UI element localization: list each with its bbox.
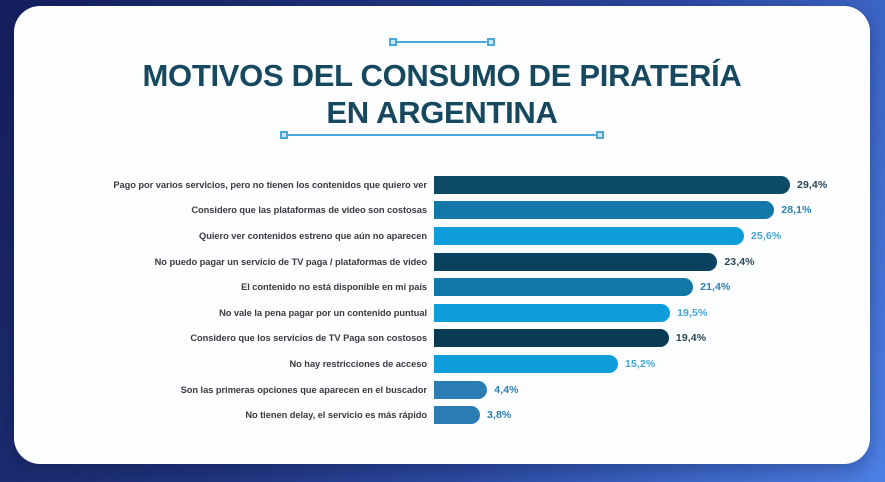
chart-row-track: 21,4% (434, 274, 870, 300)
chart-bar-value: 23,4% (724, 256, 754, 268)
chart-bar-value: 19,5% (677, 307, 707, 319)
page-title: MOTIVOS DEL CONSUMO DE PIRATERÍA EN ARGE… (14, 58, 870, 131)
chart-bar (434, 355, 618, 373)
chart-bar-value: 29,4% (797, 179, 827, 191)
decoration-top (389, 37, 495, 46)
chart-row-track: 23,4% (434, 249, 870, 275)
chart-row-label: Quiero ver contenidos estreno que aún no… (14, 231, 434, 241)
decoration-cap-right (487, 38, 495, 46)
chart-row-track: 25,6% (434, 223, 870, 249)
chart-row-label: Pago por varios servicios, pero no tiene… (14, 180, 434, 190)
decoration-bar (288, 134, 596, 136)
chart-row-label: No puedo pagar un servicio de TV paga / … (14, 257, 434, 267)
chart-row-label: No tienen delay, el servicio es más rápi… (14, 410, 434, 420)
chart-row-label: Son las primeras opciones que aparecen e… (14, 385, 434, 395)
chart-bar (434, 253, 717, 271)
chart-row: No vale la pena pagar por un contenido p… (14, 300, 870, 326)
chart-row: Considero que los servicios de TV Paga s… (14, 326, 870, 352)
chart-row: No puedo pagar un servicio de TV paga / … (14, 249, 870, 275)
chart-row: Pago por varios servicios, pero no tiene… (14, 172, 870, 198)
chart-row-track: 19,5% (434, 300, 870, 326)
chart-bar (434, 227, 744, 245)
horizontal-bar-chart: Pago por varios servicios, pero no tiene… (14, 172, 870, 428)
chart-row-label: No hay restricciones de acceso (14, 359, 434, 369)
chart-row: Quiero ver contenidos estreno que aún no… (14, 223, 870, 249)
chart-row: Son las primeras opciones que aparecen e… (14, 377, 870, 403)
chart-bar (434, 278, 693, 296)
chart-bar-value: 4,4% (494, 384, 518, 396)
chart-row-track: 19,4% (434, 326, 870, 352)
chart-row: El contenido no está disponible en mi pa… (14, 274, 870, 300)
chart-bar (434, 329, 669, 347)
decoration-cap-right (596, 131, 604, 139)
chart-bar-value: 25,6% (751, 230, 781, 242)
chart-row-track: 28,1% (434, 198, 870, 224)
chart-row-track: 3,8% (434, 402, 870, 428)
chart-bar-value: 3,8% (487, 409, 511, 421)
chart-row: No tienen delay, el servicio es más rápi… (14, 402, 870, 428)
chart-bar-value: 15,2% (625, 358, 655, 370)
chart-bar-value: 21,4% (700, 281, 730, 293)
chart-bar (434, 406, 480, 424)
chart-row-label: Considero que las plataformas de video s… (14, 205, 434, 215)
chart-bar-value: 28,1% (781, 204, 811, 216)
chart-row-track: 29,4% (434, 172, 870, 198)
chart-card: MOTIVOS DEL CONSUMO DE PIRATERÍA EN ARGE… (14, 6, 870, 464)
chart-bar (434, 381, 487, 399)
chart-row-track: 15,2% (434, 351, 870, 377)
decoration-cap-left (280, 131, 288, 139)
page-title-line-2: EN ARGENTINA (14, 95, 870, 132)
chart-row-label: El contenido no está disponible en mi pa… (14, 282, 434, 292)
chart-row-label: No vale la pena pagar por un contenido p… (14, 308, 434, 318)
chart-row-track: 4,4% (434, 377, 870, 403)
chart-bar-value: 19,4% (676, 332, 706, 344)
decoration-bottom (280, 130, 604, 139)
decoration-cap-left (389, 38, 397, 46)
chart-bar (434, 176, 790, 194)
page-title-line-1: MOTIVOS DEL CONSUMO DE PIRATERÍA (143, 58, 742, 93)
chart-bar (434, 304, 670, 322)
chart-row: Considero que las plataformas de video s… (14, 198, 870, 224)
chart-row-label: Considero que los servicios de TV Paga s… (14, 333, 434, 343)
chart-row: No hay restricciones de acceso15,2% (14, 351, 870, 377)
chart-bar (434, 201, 774, 219)
decoration-bar (397, 41, 487, 43)
